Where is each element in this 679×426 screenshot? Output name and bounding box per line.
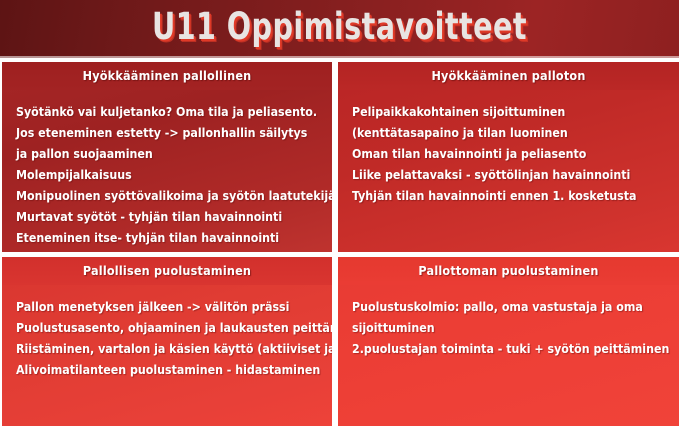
title-band: U11 Oppimistavoitteet xyxy=(0,0,679,58)
list-item: Jos eteneminen estetty -> pallonhallin s… xyxy=(16,123,320,165)
list-item: Syötänkö vai kuljetanko? Oma tila ja pel… xyxy=(16,102,320,123)
list-item: Puolustusasento, ohjaaminen ja laukauste… xyxy=(16,318,320,339)
quadrant-title: Hyökkääminen pallollinen xyxy=(2,62,332,90)
quadrant-title: Pallollisen puolustaminen xyxy=(2,257,332,285)
list-item: Eteneminen itse- tyhjän tilan havainnoin… xyxy=(16,228,320,249)
quadrant-title: Hyökkääminen palloton xyxy=(338,62,679,90)
list-item: Liike pelattavaksi - syöttölinjan havain… xyxy=(352,165,667,186)
list-item: Monipuolinen syöttövalikoima ja syötön l… xyxy=(16,186,320,207)
quadrant-pallottoman-puolustaminen: Pallottoman puolustaminen Puolustuskolmi… xyxy=(338,257,679,426)
list-item: Pallon menetyksen jälkeen -> välitön prä… xyxy=(16,297,320,318)
quadrant-grid: Hyökkääminen pallollinen Syötänkö vai ku… xyxy=(0,60,679,426)
list-item: Murtavat syötöt - tyhjän tilan havainnoi… xyxy=(16,207,320,228)
quadrant-hyokkaaminen-pallollinen: Hyökkääminen pallollinen Syötänkö vai ku… xyxy=(2,62,332,252)
page-title: U11 Oppimistavoitteet xyxy=(48,2,632,52)
quadrant-body: Pallon menetyksen jälkeen -> välitön prä… xyxy=(2,285,332,387)
quadrant-hyokkaaminen-palloton: Hyökkääminen palloton Pelipaikkakohtaine… xyxy=(338,62,679,252)
quadrant-body: Syötänkö vai kuljetanko? Oma tila ja pel… xyxy=(2,90,332,252)
quadrant-title: Pallottoman puolustaminen xyxy=(338,257,679,285)
list-item: Oman tilan havainnointi ja peliasento xyxy=(352,144,667,165)
list-item: Pelipaikkakohtainen sijoittuminen (kentt… xyxy=(352,102,667,144)
quadrant-pallollisen-puolustaminen: Pallollisen puolustaminen Pallon menetyk… xyxy=(2,257,332,426)
list-item: 2.puolustajan toiminta - tuki + syötön p… xyxy=(352,339,667,360)
quadrant-body: Puolustuskolmio: pallo, oma vastustaja j… xyxy=(338,285,679,366)
list-item: Puolustuskolmio: pallo, oma vastustaja j… xyxy=(352,297,667,339)
list-item: Tyhjän tilan havainnointi ennen 1. koske… xyxy=(352,186,667,207)
list-item: Molempijalkaisuus xyxy=(16,165,320,186)
quadrant-body: Pelipaikkakohtainen sijoittuminen (kentt… xyxy=(338,90,679,213)
slide-root: U11 Oppimistavoitteet Hyökkääminen pallo… xyxy=(0,0,679,426)
list-item: Riistäminen, vartalon ja käsien käyttö (… xyxy=(16,339,320,360)
list-item: Alivoimatilanteen puolustaminen - hidast… xyxy=(16,360,320,381)
